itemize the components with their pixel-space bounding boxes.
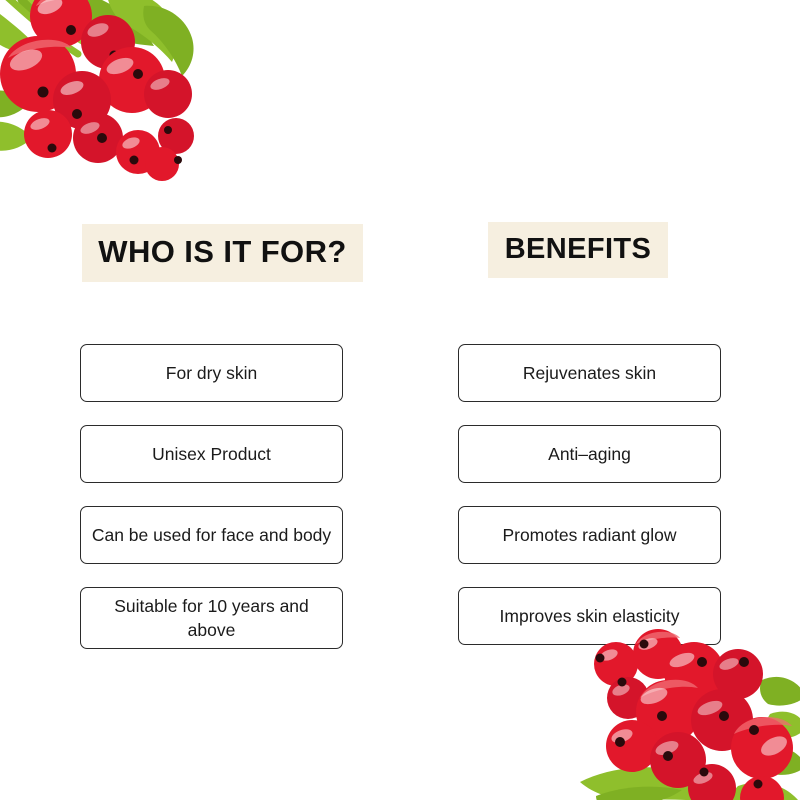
list-item-label: For dry skin bbox=[166, 361, 257, 385]
list-item: Rejuvenates skin bbox=[458, 344, 721, 402]
list-item: Improves skin elasticity bbox=[458, 587, 721, 645]
list-item: Suitable for 10 years and above bbox=[80, 587, 343, 649]
list-item-label: Rejuvenates skin bbox=[523, 361, 656, 385]
section-heading-who-is-it-for: WHO IS IT FOR? bbox=[82, 224, 363, 282]
redcurrant-cluster-bottom-right-icon bbox=[566, 620, 800, 800]
product-info-card: WHO IS IT FOR? BENEFITS For dry skin Uni… bbox=[0, 0, 800, 800]
who-is-it-for-list: For dry skin Unisex Product Can be used … bbox=[80, 344, 343, 649]
list-item-label: Can be used for face and body bbox=[92, 523, 331, 547]
redcurrant-cluster-top-left-icon bbox=[0, 0, 216, 199]
list-item: Unisex Product bbox=[80, 425, 343, 483]
section-heading-label: WHO IS IT FOR? bbox=[98, 234, 346, 270]
section-heading-label: BENEFITS bbox=[505, 233, 652, 266]
list-item: Anti–aging bbox=[458, 425, 721, 483]
list-item: Promotes radiant glow bbox=[458, 506, 721, 564]
list-item: For dry skin bbox=[80, 344, 343, 402]
section-heading-benefits: BENEFITS bbox=[488, 222, 668, 278]
benefits-list: Rejuvenates skin Anti–aging Promotes rad… bbox=[458, 344, 721, 645]
list-item-label: Unisex Product bbox=[152, 442, 271, 466]
list-item-label: Promotes radiant glow bbox=[502, 523, 676, 547]
list-item-label: Anti–aging bbox=[548, 442, 631, 466]
list-item: Can be used for face and body bbox=[80, 506, 343, 564]
list-item-label: Suitable for 10 years and above bbox=[91, 594, 332, 642]
list-item-label: Improves skin elasticity bbox=[500, 604, 680, 628]
